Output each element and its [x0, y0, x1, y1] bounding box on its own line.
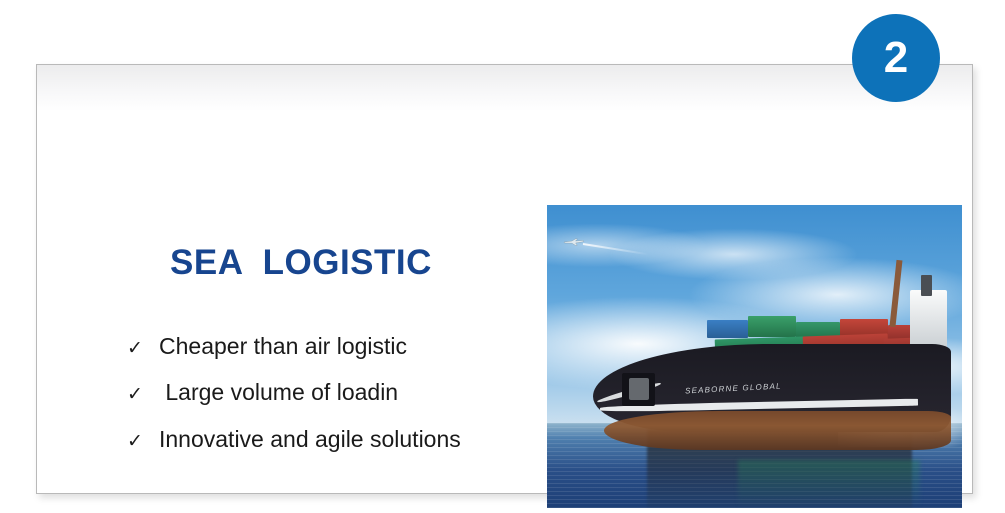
list-item: ✓ Cheaper than air logistic	[127, 333, 547, 359]
step-number-badge: 2	[852, 14, 940, 102]
list-item-label: Cheaper than air logistic	[159, 333, 407, 359]
check-icon: ✓	[127, 385, 159, 404]
ship-photo: SEABORNE GLOBAL	[547, 205, 962, 508]
container-ship: SEABORNE GLOBAL	[593, 323, 962, 475]
anchor-housing	[622, 373, 655, 406]
bullet-list: ✓ Cheaper than air logistic ✓ Large volu…	[127, 333, 547, 472]
content-card: SEA LOGISTIC ✓ Cheaper than air logistic…	[36, 64, 973, 494]
anchor-icon	[629, 378, 649, 400]
list-item-label: Innovative and agile solutions	[159, 426, 461, 452]
list-item: ✓ Large volume of loadin	[127, 379, 547, 405]
ship-funnel	[921, 275, 932, 296]
list-item: ✓ Innovative and agile solutions	[127, 426, 547, 452]
step-number: 2	[884, 36, 908, 80]
hull-rust-band	[604, 411, 951, 450]
card-top-sheen	[37, 65, 972, 111]
container-green	[748, 316, 796, 337]
check-icon: ✓	[127, 432, 159, 451]
ship-bridge	[910, 290, 947, 351]
airplane-icon	[563, 238, 585, 246]
slide-canvas: SEA LOGISTIC ✓ Cheaper than air logistic…	[0, 0, 1005, 513]
page-title: SEA LOGISTIC	[170, 243, 432, 283]
container-blue	[707, 320, 748, 338]
check-icon: ✓	[127, 339, 159, 358]
list-item-label: Large volume of loadin	[159, 379, 398, 405]
